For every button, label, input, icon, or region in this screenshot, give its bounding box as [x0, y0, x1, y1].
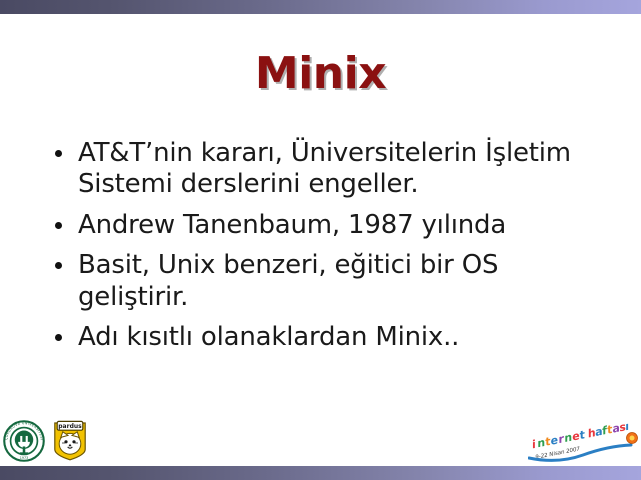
- bullet-list: AT&T’nin kararı, Üniversitelerin İşletim…: [50, 138, 610, 363]
- bullet-dot-icon: [55, 222, 62, 229]
- top-decorative-band: [0, 0, 641, 14]
- list-item-label: Andrew Tanenbaum, 1987 yılında: [78, 210, 506, 240]
- pardus-logo-icon: pardus: [50, 419, 90, 463]
- university-seal-icon: ÇUKUROVA ÜNİVERSİTESİ 1973: [3, 420, 45, 462]
- bullet-dot-icon: [55, 334, 62, 341]
- list-item-label: Basit, Unix benzeri, eğitici bir OS geli…: [78, 250, 498, 311]
- list-item: AT&T’nin kararı, Üniversitelerin İşletim…: [50, 138, 610, 201]
- bottom-decorative-band: [0, 466, 641, 480]
- bullet-dot-icon: [55, 262, 62, 269]
- list-item: Andrew Tanenbaum, 1987 yılında: [50, 210, 610, 241]
- internet-haftasi-logo-icon: i n t e r n e t h a f t a s ı 9-22 Nisan…: [528, 421, 638, 463]
- list-item: Basit, Unix benzeri, eğitici bir OS geli…: [50, 250, 610, 313]
- university-year-label: 1973: [20, 456, 29, 460]
- pardus-wordmark: pardus: [58, 423, 82, 430]
- page-title: Minix: [0, 52, 641, 96]
- footer-logo-group-left: ÇUKUROVA ÜNİVERSİTESİ 1973 pardus: [3, 419, 90, 463]
- bullet-dot-icon: [55, 150, 62, 157]
- list-item-label: AT&T’nin kararı, Üniversitelerin İşletim…: [78, 138, 571, 199]
- list-item-label: Adı kısıtlı olanaklardan Minix..: [78, 322, 459, 352]
- list-item: Adı kısıtlı olanaklardan Minix..: [50, 322, 610, 353]
- slide-canvas: Minix AT&T’nin kararı, Üniversitelerin İ…: [0, 0, 641, 480]
